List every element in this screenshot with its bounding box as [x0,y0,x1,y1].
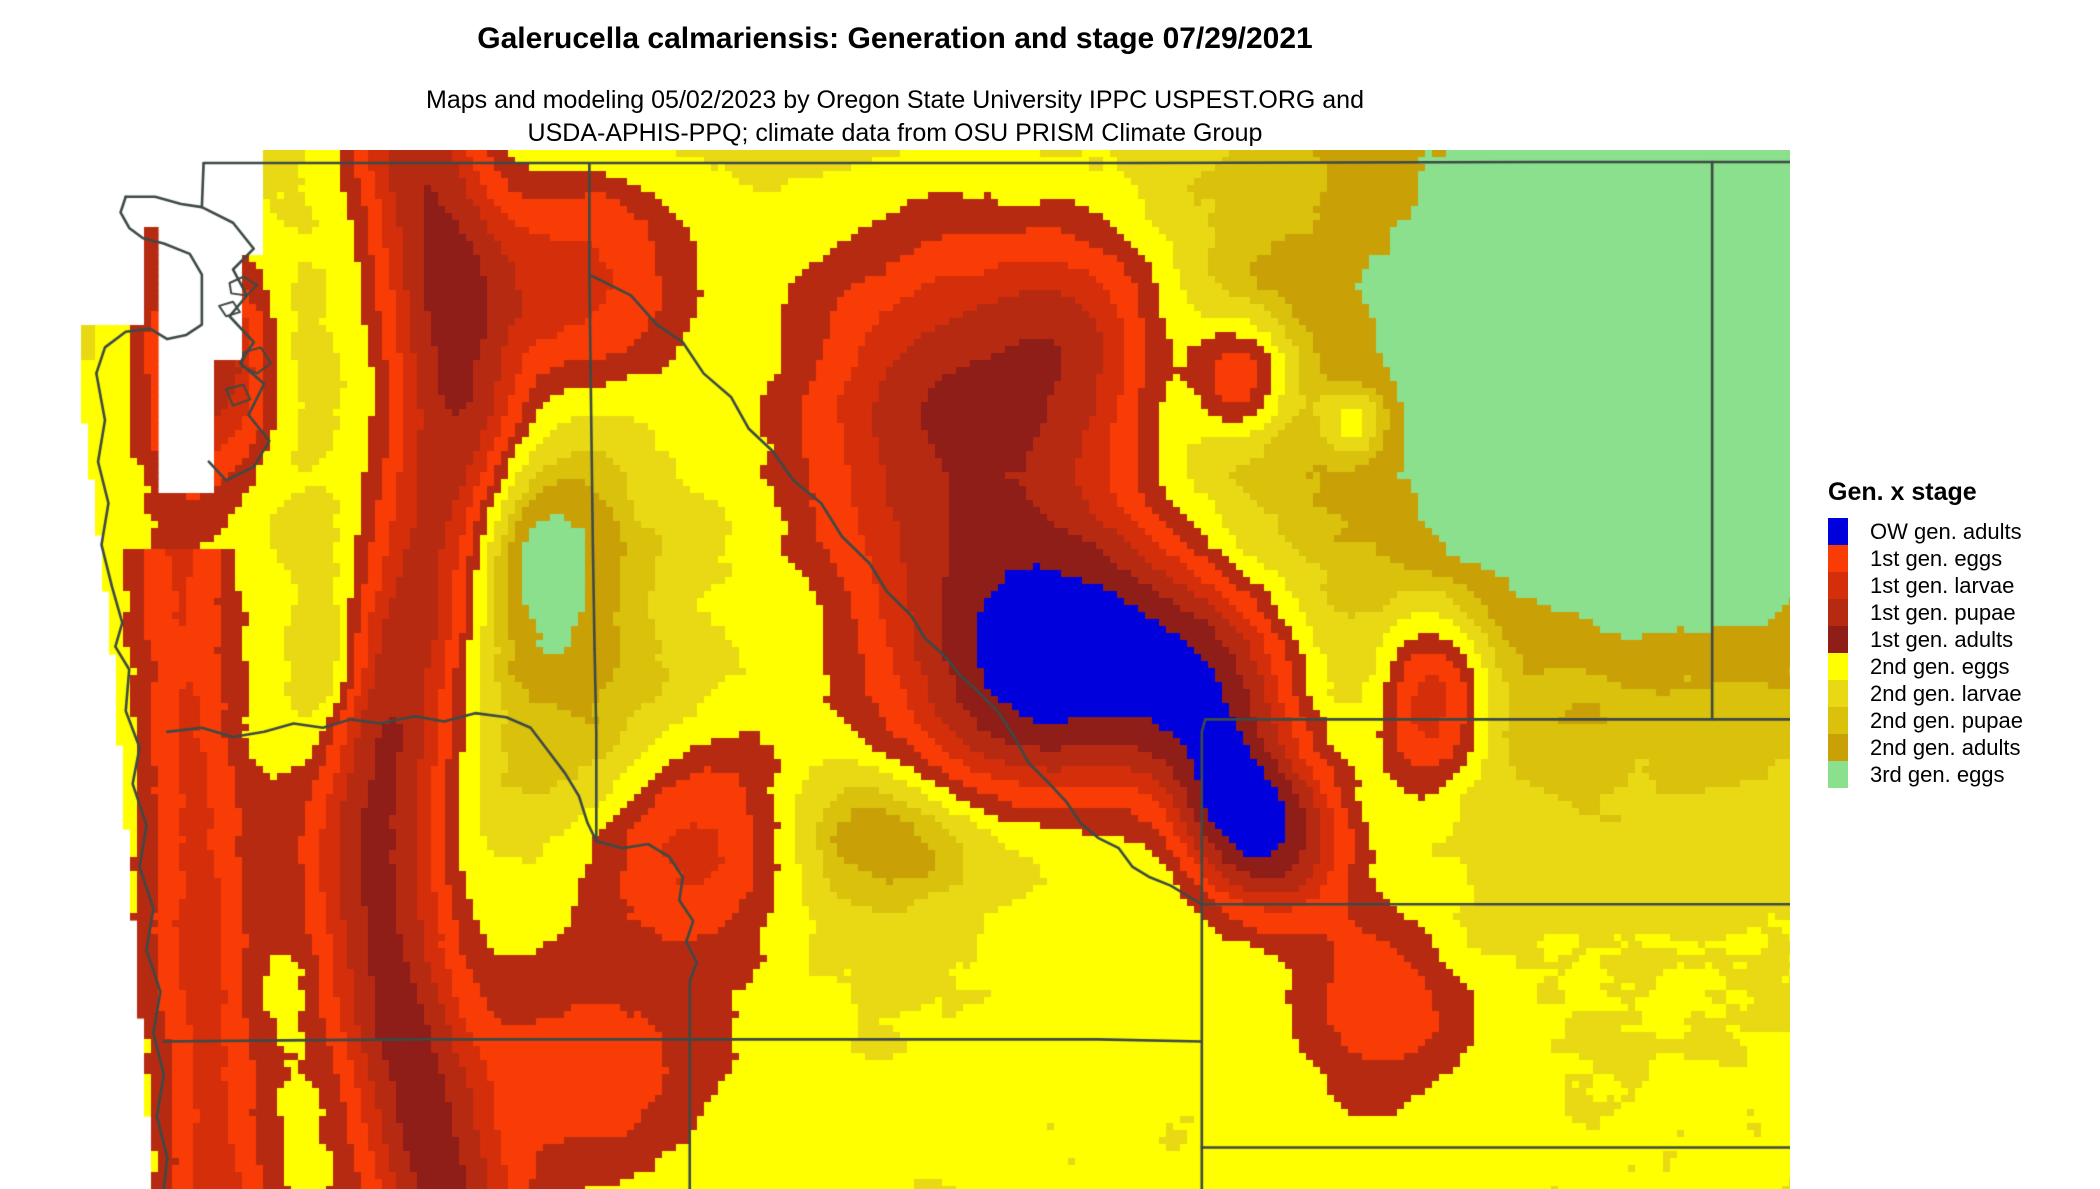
legend-item-label: 1st gen. larvae [1870,572,2014,599]
legend-swatch-icon [1828,599,1848,626]
legend-item-label: 2nd gen. larvae [1870,680,2022,707]
legend-item-label: 3rd gen. eggs [1870,761,2005,788]
legend-item-label: 2nd gen. adults [1870,734,2020,761]
legend-swatch-icon [1828,626,1848,653]
legend-swatch-icon [1828,518,1848,545]
legend-item-label: 2nd gen. pupae [1870,707,2023,734]
legend-item: 1st gen. eggs [1828,545,2078,572]
legend-swatch-icon [1828,761,1848,788]
subtitle-line-1: Maps and modeling 05/02/2023 by Oregon S… [0,84,1790,117]
legend-rows: OW gen. adults1st gen. eggs1st gen. larv… [1828,518,2078,788]
legend-swatch-icon [1828,572,1848,599]
legend-swatch-icon [1828,734,1848,761]
legend-swatch-icon [1828,545,1848,572]
legend-item: OW gen. adults [1828,518,2078,545]
legend-swatch-icon [1828,653,1848,680]
pacific-northwest-raster-map[interactable] [60,150,1790,1189]
legend-swatch-icon [1828,680,1848,707]
legend-title: Gen. x stage [1828,478,2078,506]
page-title: Galerucella calmariensis: Generation and… [0,22,1790,56]
legend-swatch-icon [1828,707,1848,734]
legend-item: 2nd gen. larvae [1828,680,2078,707]
page-subtitle: Maps and modeling 05/02/2023 by Oregon S… [0,84,1790,150]
legend-item: 3rd gen. eggs [1828,761,2078,788]
legend: Gen. x stage OW gen. adults1st gen. eggs… [1828,478,2078,788]
legend-item: 1st gen. adults [1828,626,2078,653]
legend-item: 2nd gen. pupae [1828,707,2078,734]
legend-item-label: 1st gen. eggs [1870,545,2002,572]
legend-item: 1st gen. pupae [1828,599,2078,626]
legend-item: 1st gen. larvae [1828,572,2078,599]
legend-item-label: 2nd gen. eggs [1870,653,2009,680]
legend-item-label: OW gen. adults [1870,518,2022,545]
map-container[interactable] [60,150,1790,1189]
subtitle-line-2: USDA-APHIS-PPQ; climate data from OSU PR… [0,117,1790,150]
legend-item: 2nd gen. adults [1828,734,2078,761]
legend-item-label: 1st gen. adults [1870,626,2013,653]
legend-item: 2nd gen. eggs [1828,653,2078,680]
legend-item-label: 1st gen. pupae [1870,599,2016,626]
